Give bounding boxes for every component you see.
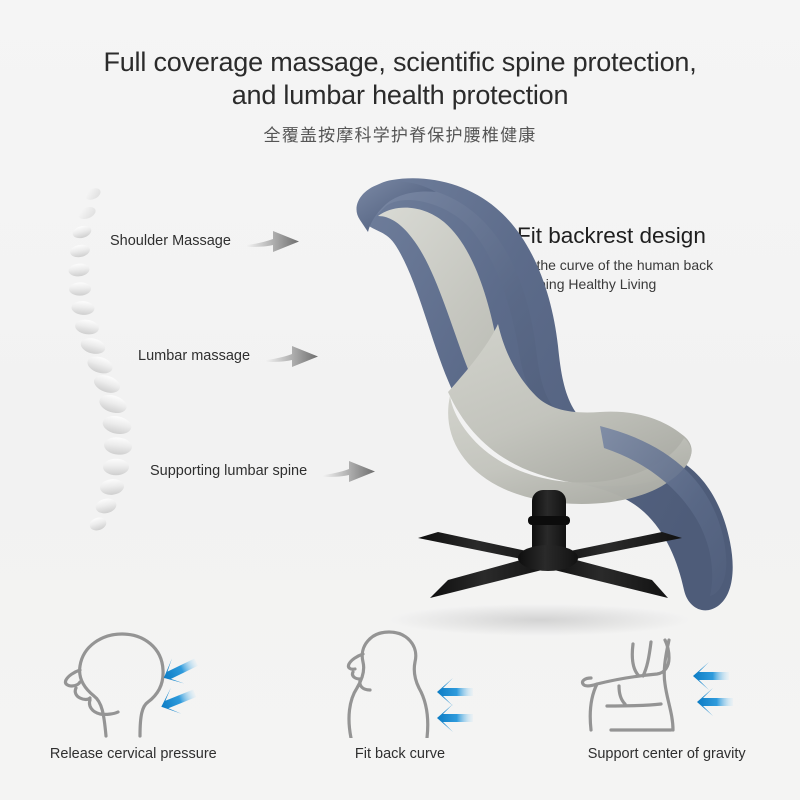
callout-lumbar-massage: Lumbar massage [138,341,320,371]
pressure-arrow-icon [437,678,473,732]
feature-artwork [46,620,221,738]
feature-row: Release cervical pressure Fit back curve [0,620,800,800]
callout-label: Supporting lumbar spine [150,463,307,479]
feature-caption: Release cervical pressure [50,746,217,762]
callout-label: Lumbar massage [138,348,250,364]
head-profile-icon [46,626,221,738]
callout-shoulder-massage: Shoulder Massage [110,226,301,256]
page-subtitle-chinese: 全覆盖按摩科学护脊保护腰椎健康 [0,121,800,146]
seated-person-icon [577,626,757,738]
pressure-arrow-icon [156,650,202,720]
feature-support-center-of-gravity: Support center of gravity [533,620,800,800]
feature-artwork [577,620,757,738]
page-header: Full coverage massage, scientific spine … [0,46,800,146]
torso-profile-icon [315,626,485,738]
callout-label: Shoulder Massage [110,233,231,249]
feature-caption: Support center of gravity [588,746,746,762]
feature-fit-back-curve: Fit back curve [267,620,534,800]
feature-artwork [315,620,485,738]
feature-caption: Fit back curve [355,746,445,762]
feature-release-cervical-pressure: Release cervical pressure [0,620,267,800]
arrow-right-icon [245,226,301,256]
chair-pedestal-ring [528,516,570,525]
infographic-page: Full coverage massage, scientific spine … [0,0,800,800]
massage-lounge-chair [300,160,800,640]
pressure-arrow-icon [693,662,733,716]
page-title-line-2: and lumbar health protection [0,79,800,112]
page-title-line-1: Full coverage massage, scientific spine … [0,46,800,79]
